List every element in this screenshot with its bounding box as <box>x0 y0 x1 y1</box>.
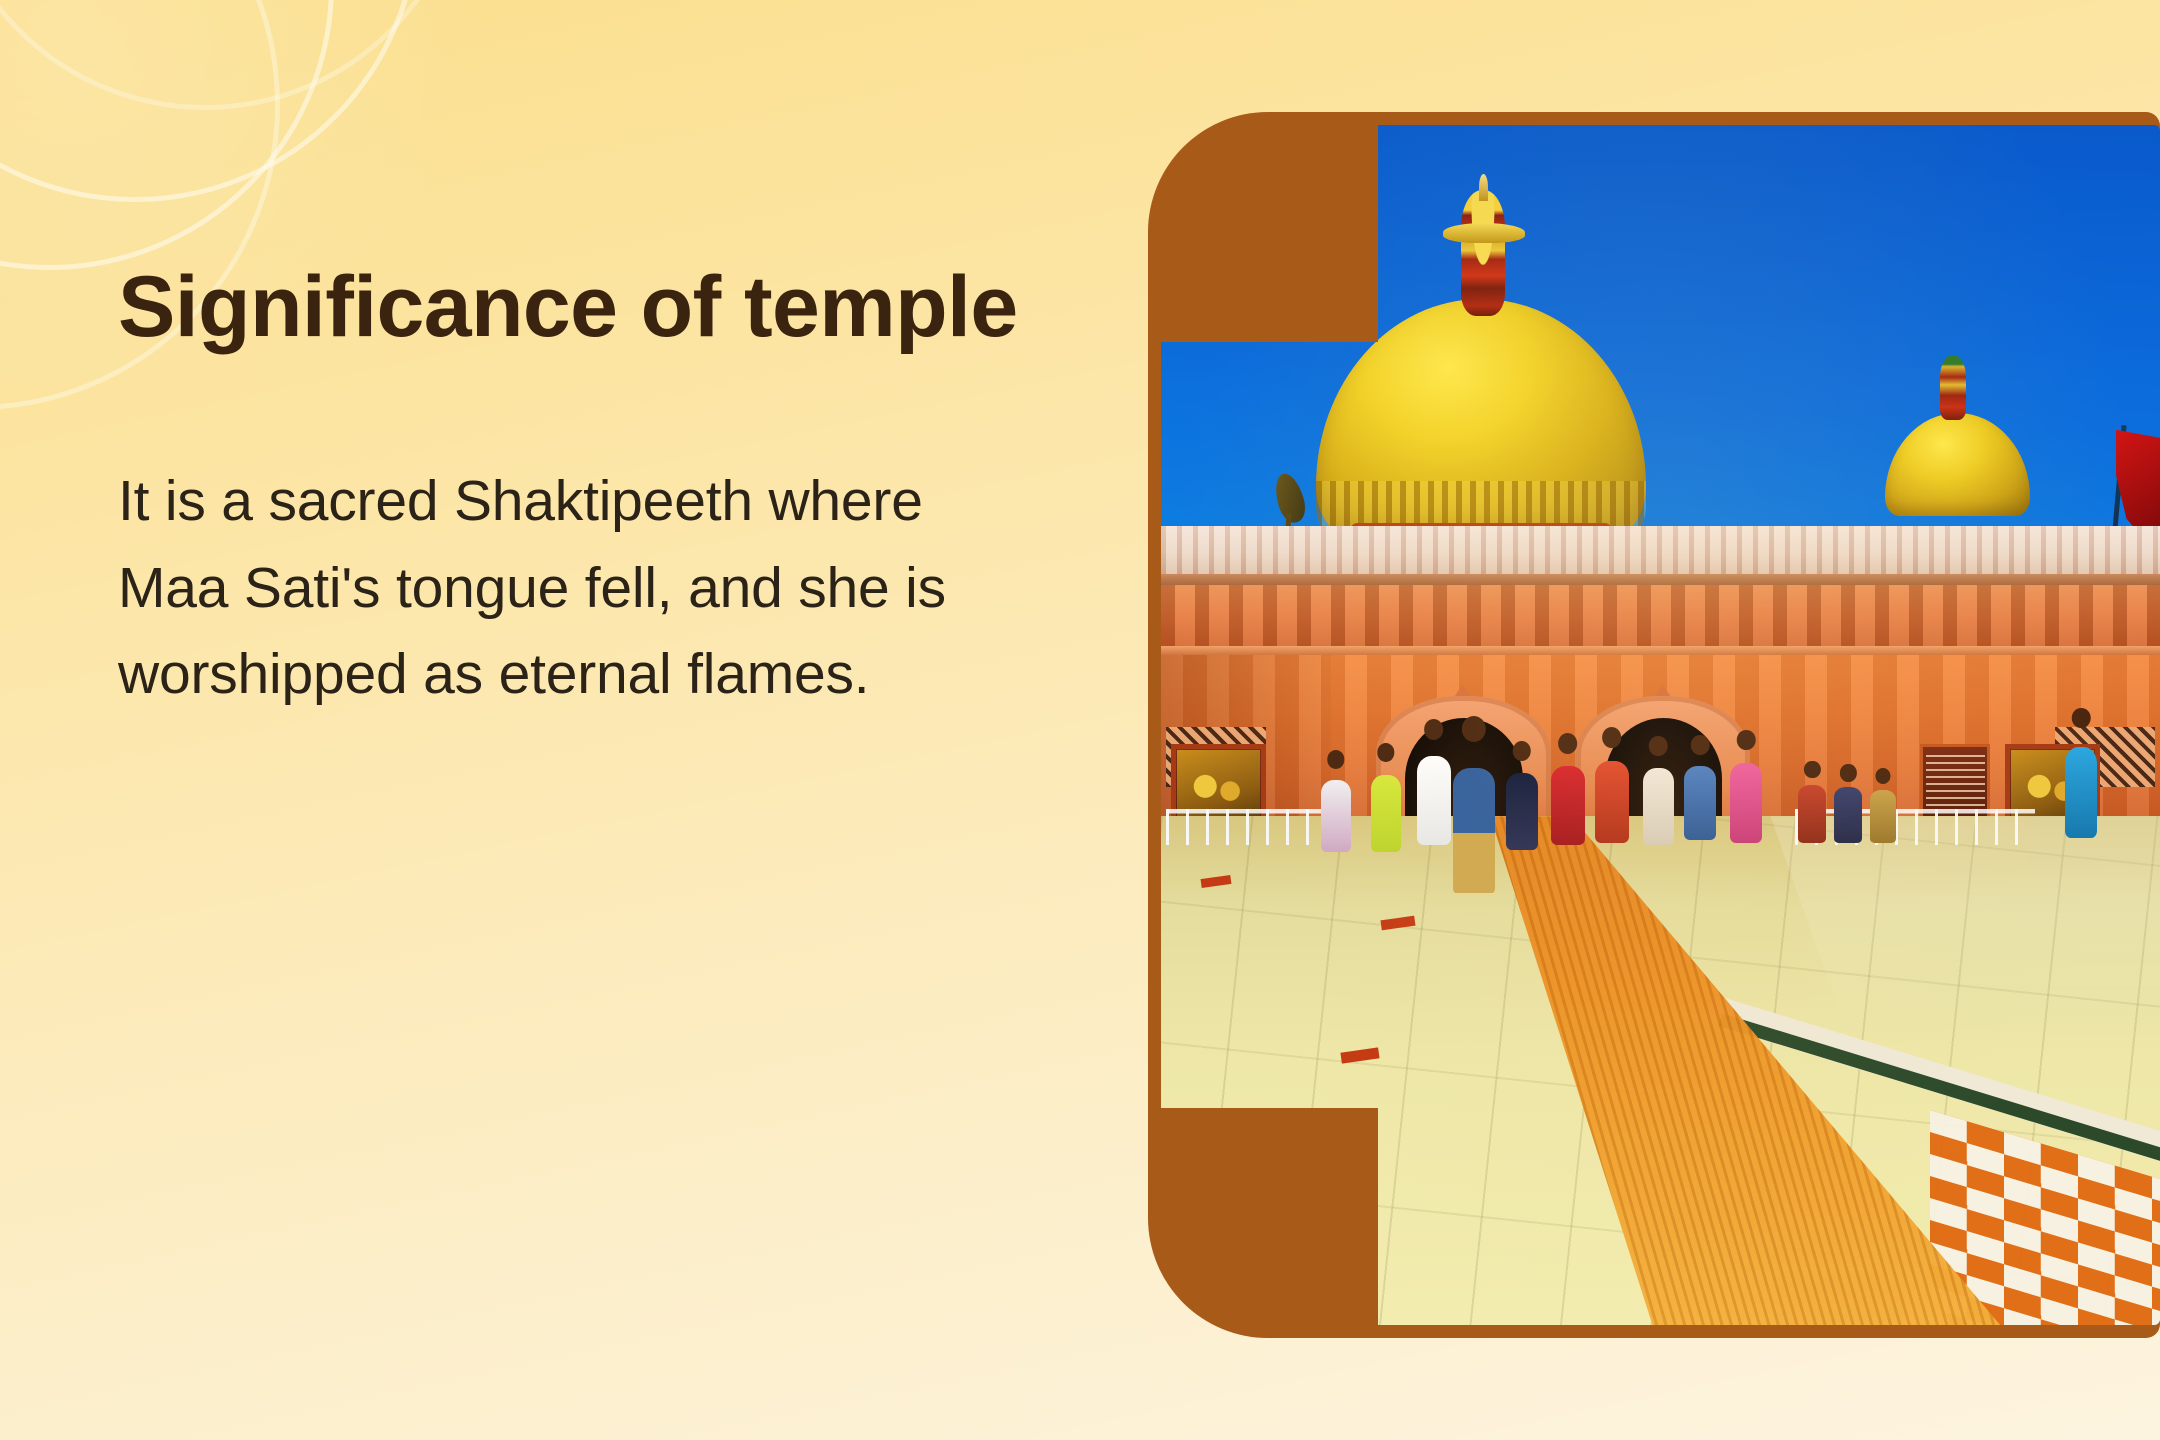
devotee <box>1551 766 1585 845</box>
devotee-head <box>1424 719 1444 740</box>
devotee-head <box>1691 735 1710 755</box>
dome-finial <box>1461 190 1505 316</box>
carved-cornice <box>1161 526 2160 576</box>
devotee-head <box>2072 708 2091 728</box>
temple-photo <box>1161 125 2160 1325</box>
devotee <box>1371 775 1401 852</box>
small-dome-finial <box>1940 355 1966 420</box>
temple-signboard <box>1920 744 1990 818</box>
devotee-head <box>1649 736 1668 756</box>
devotee <box>1506 773 1538 850</box>
devotee <box>1643 768 1675 845</box>
devotee <box>1870 790 1896 843</box>
devotee <box>1730 763 1762 842</box>
slide-canvas: Significance of temple It is a sacred Sh… <box>0 0 2160 1440</box>
temple-photo-card <box>1148 112 2160 1338</box>
devotee-head <box>1377 743 1394 762</box>
devotee <box>1798 785 1826 843</box>
devotee-head <box>1602 727 1622 748</box>
devotee <box>2065 747 2097 838</box>
devotee <box>1834 787 1862 842</box>
decorative-circle-two <box>0 0 420 202</box>
dome-finial-cap <box>1443 223 1525 242</box>
devotee-head <box>1737 730 1756 750</box>
decorative-circle-one <box>0 0 334 270</box>
devotee-head <box>1804 761 1820 779</box>
decorative-circle-three <box>0 0 470 110</box>
railing-left <box>1166 809 1326 845</box>
devotee-head <box>1840 764 1856 782</box>
devotee <box>1417 756 1451 845</box>
dome-finial-spike <box>1479 174 1488 200</box>
temple-scene <box>1161 125 2160 1325</box>
devotee <box>1321 780 1351 852</box>
page-title: Significance of temple <box>118 255 1023 360</box>
railing-right <box>1795 809 2035 845</box>
devotee-head <box>1558 733 1578 754</box>
facade-relief-band <box>1161 585 2160 647</box>
text-column: Significance of temple It is a sacred Sh… <box>118 255 1023 718</box>
body-paragraph: It is a sacred Shaktipeeth where Maa Sat… <box>118 458 998 718</box>
devotee-head <box>1512 741 1531 761</box>
devotee <box>1453 768 1495 893</box>
devotee <box>1684 766 1716 840</box>
devotee <box>1595 761 1629 843</box>
devotee-head <box>1327 750 1344 769</box>
